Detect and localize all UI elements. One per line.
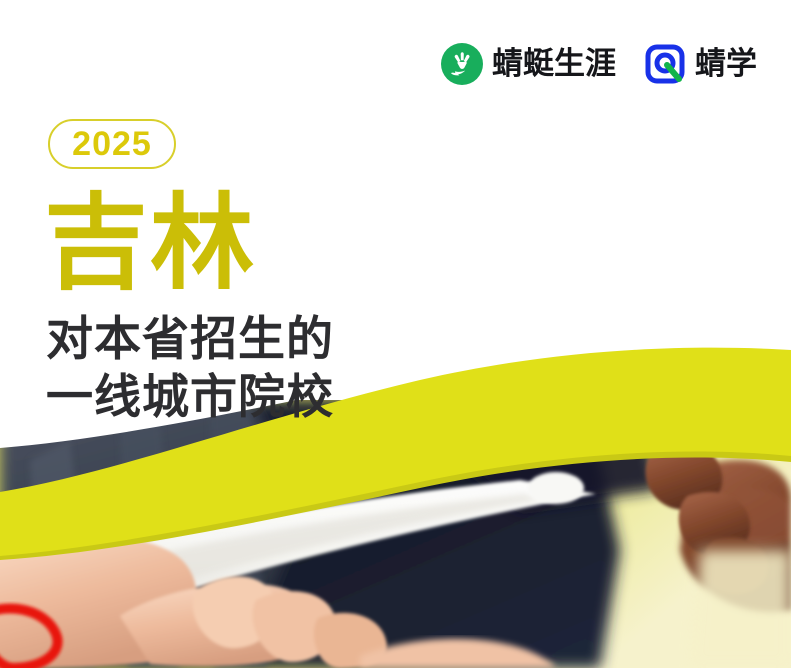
brand-name-dragonfly-career: 蜻蜓生涯 [492,49,616,80]
q-rounded-square-icon [644,43,686,85]
graduation-photo [0,400,791,668]
page-subtitle-line-2: 一线城市院校 [46,369,334,427]
brand-qingxue[interactable]: 蜻学 [644,43,757,85]
graduation-photo-illustration [0,400,791,668]
brand-dragonfly-career[interactable]: 蜻蜓生涯 [441,43,616,85]
year-badge-label: 2025 [72,127,152,161]
dragonfly-leaf-circle-icon [441,43,483,85]
page-title-province: 吉林 [44,191,256,295]
poster-root: 蜻蜓生涯 蜻学 2025 吉林 对本省招生的 一线城市院校 [0,0,791,668]
page-subtitle: 对本省招生的 一线城市院校 [46,311,334,427]
brand-name-qingxue: 蜻学 [695,49,757,80]
brand-bar: 蜻蜓生涯 蜻学 [441,43,757,85]
page-subtitle-line-1: 对本省招生的 [46,311,334,369]
year-badge: 2025 [48,119,176,169]
